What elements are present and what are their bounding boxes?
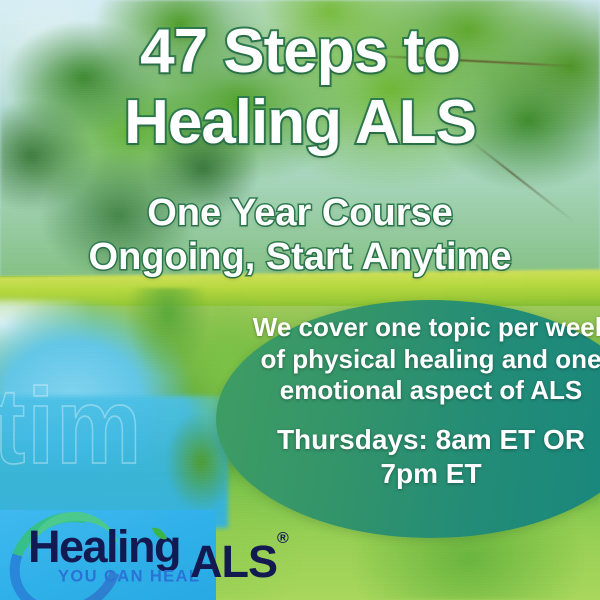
page-title: 47 Steps to Healing ALS bbox=[0, 22, 600, 154]
callout-oval: We cover one topic per week of physical … bbox=[216, 300, 600, 538]
logo-als-text: ALS bbox=[190, 536, 277, 587]
logo-tagline-text: YOU CAN HEAL bbox=[58, 568, 200, 586]
headline-line-2: Healing ALS bbox=[0, 93, 600, 154]
subheadline-line-1: One Year Course bbox=[0, 193, 600, 233]
page-subtitle: One Year Course Ongoing, Start Anytime bbox=[0, 193, 600, 278]
logo-registered-mark: ® bbox=[277, 530, 289, 547]
headline-line-1: 47 Steps to bbox=[0, 22, 600, 83]
callout-schedule-text: Thursdays: 8am ET OR 7pm ET bbox=[256, 423, 600, 490]
subheadline-line-2: Ongoing, Start Anytime bbox=[0, 237, 600, 277]
callout-body-text: We cover one topic per week of physical … bbox=[245, 312, 600, 407]
logo-als-wordmark: ALS® bbox=[190, 539, 289, 584]
poster-canvas: rtim 47 Steps to Healing ALS One Year Co… bbox=[0, 0, 600, 600]
logo-tagline: YOU CAN HEAL® bbox=[58, 567, 208, 587]
logo-badge[interactable]: Healing YOU CAN HEAL® bbox=[0, 510, 216, 600]
